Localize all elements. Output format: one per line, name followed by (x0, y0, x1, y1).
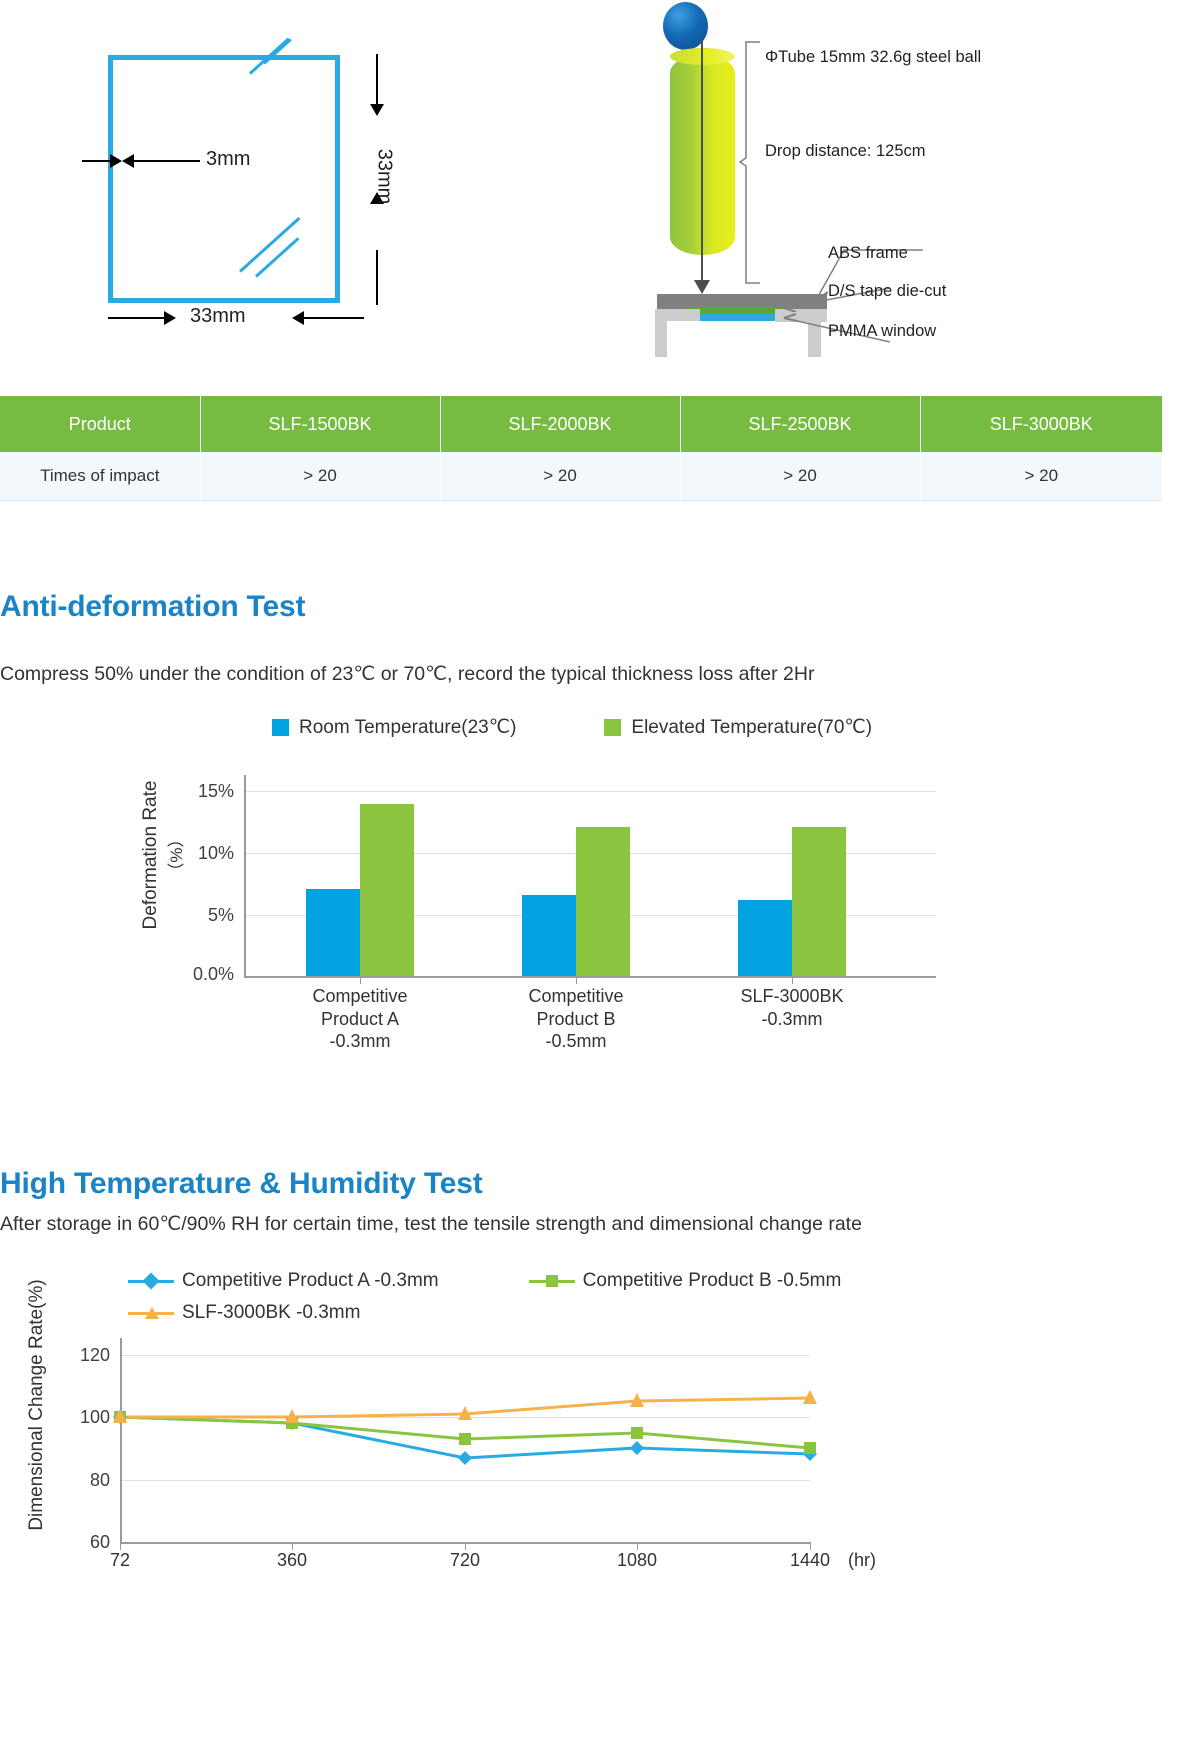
line-chart-gridline-120 (120, 1355, 810, 1356)
line-chart-x-axis-unit: (hr) (832, 1549, 892, 1572)
line-chart-gridline-80 (120, 1480, 810, 1481)
markers-slf3000bk (113, 1390, 817, 1423)
line-chart-plot (0, 0, 1184, 1746)
line-chart-y-axis (120, 1338, 122, 1543)
line-chart-ytick-80: 80 (60, 1470, 110, 1491)
line-chart-xtick-label-360: 360 (262, 1549, 322, 1572)
line-chart-xtick-label-1440: 1440 (780, 1549, 840, 1572)
line-chart-ytick-100: 100 (60, 1407, 110, 1428)
line-chart-xtick-label-72: 72 (90, 1549, 150, 1572)
line-series-competitive-a (120, 1417, 810, 1458)
line-series-competitive-b (120, 1417, 810, 1448)
page-root: 3mm 33mm 33mm (0, 0, 1184, 1746)
markers-competitive-a (113, 1410, 817, 1465)
line-chart-y-axis-title: Dimensional Change Rate(%) (26, 1255, 48, 1555)
line-chart-ytick-120: 120 (60, 1345, 110, 1366)
line-chart-gridline-100 (120, 1417, 810, 1418)
line-chart: Dimensional Change Rate(%) 120 100 80 60 (0, 0, 1184, 1746)
line-chart-xtick-label-1080: 1080 (607, 1549, 667, 1572)
line-series-slf3000bk (120, 1398, 810, 1417)
line-chart-xtick-label-720: 720 (435, 1549, 495, 1572)
